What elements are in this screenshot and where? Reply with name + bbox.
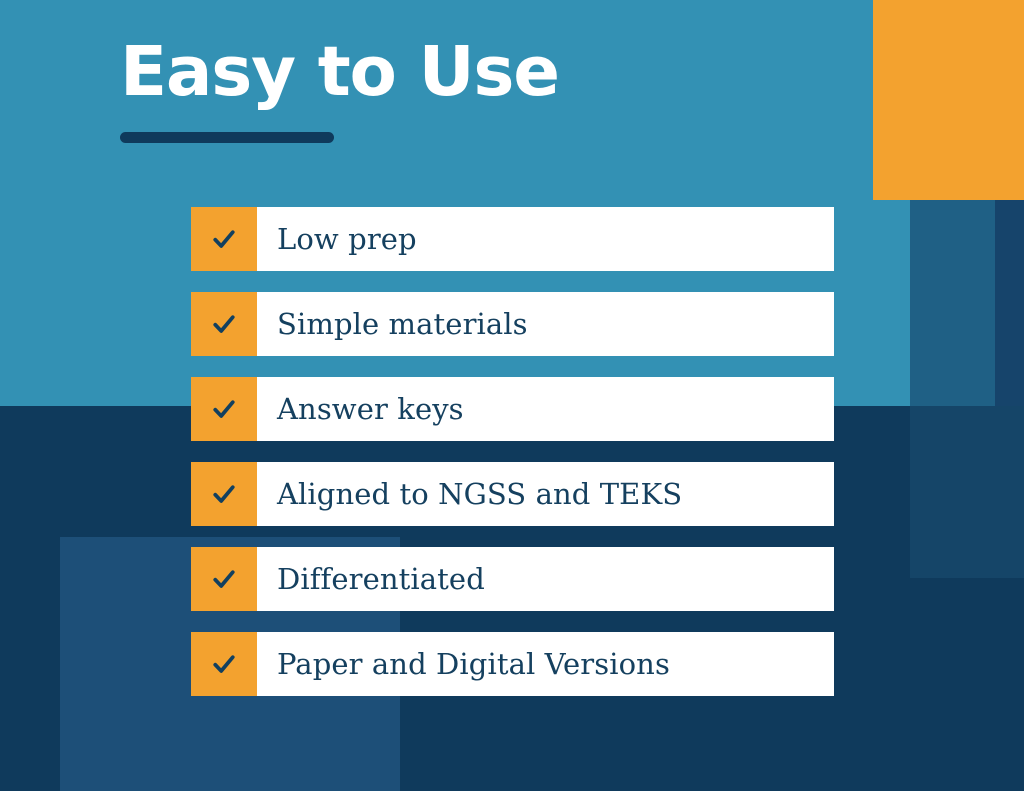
list-item-label: Simple materials: [257, 292, 834, 356]
list-item-label: Aligned to NGSS and TEKS: [257, 462, 834, 526]
list-item-1[interactable]: Low prep: [191, 207, 834, 271]
title-block: Easy to Use: [120, 36, 559, 143]
decor-right-lower-rectangle: [910, 406, 1024, 578]
checkmark-box: [191, 632, 257, 696]
list-item-2[interactable]: Simple materials: [191, 292, 834, 356]
list-item-6[interactable]: Paper and Digital Versions: [191, 632, 834, 696]
decor-right-mid-rectangle: [910, 200, 995, 406]
list-item-4[interactable]: Aligned to NGSS and TEKS: [191, 462, 834, 526]
list-item-label: Low prep: [257, 207, 834, 271]
check-icon: [210, 395, 238, 423]
decor-orange-rectangle: [873, 0, 1024, 200]
feature-checklist: Low prep Simple materials Answer keys Al…: [191, 207, 834, 696]
check-icon: [210, 480, 238, 508]
list-item-5[interactable]: Differentiated: [191, 547, 834, 611]
decor-right-dark-rectangle: [995, 200, 1024, 406]
check-icon: [210, 225, 238, 253]
check-icon: [210, 310, 238, 338]
list-item-3[interactable]: Answer keys: [191, 377, 834, 441]
check-icon: [210, 565, 238, 593]
list-item-label: Paper and Digital Versions: [257, 632, 834, 696]
list-item-label: Differentiated: [257, 547, 834, 611]
list-item-label: Answer keys: [257, 377, 834, 441]
checkmark-box: [191, 547, 257, 611]
slide-canvas: Easy to Use Low prep Simple materials An…: [0, 0, 1024, 791]
checkmark-box: [191, 292, 257, 356]
check-icon: [210, 650, 238, 678]
title-underline-rule: [120, 132, 334, 143]
checkmark-box: [191, 377, 257, 441]
checkmark-box: [191, 207, 257, 271]
page-title: Easy to Use: [120, 36, 559, 108]
checkmark-box: [191, 462, 257, 526]
